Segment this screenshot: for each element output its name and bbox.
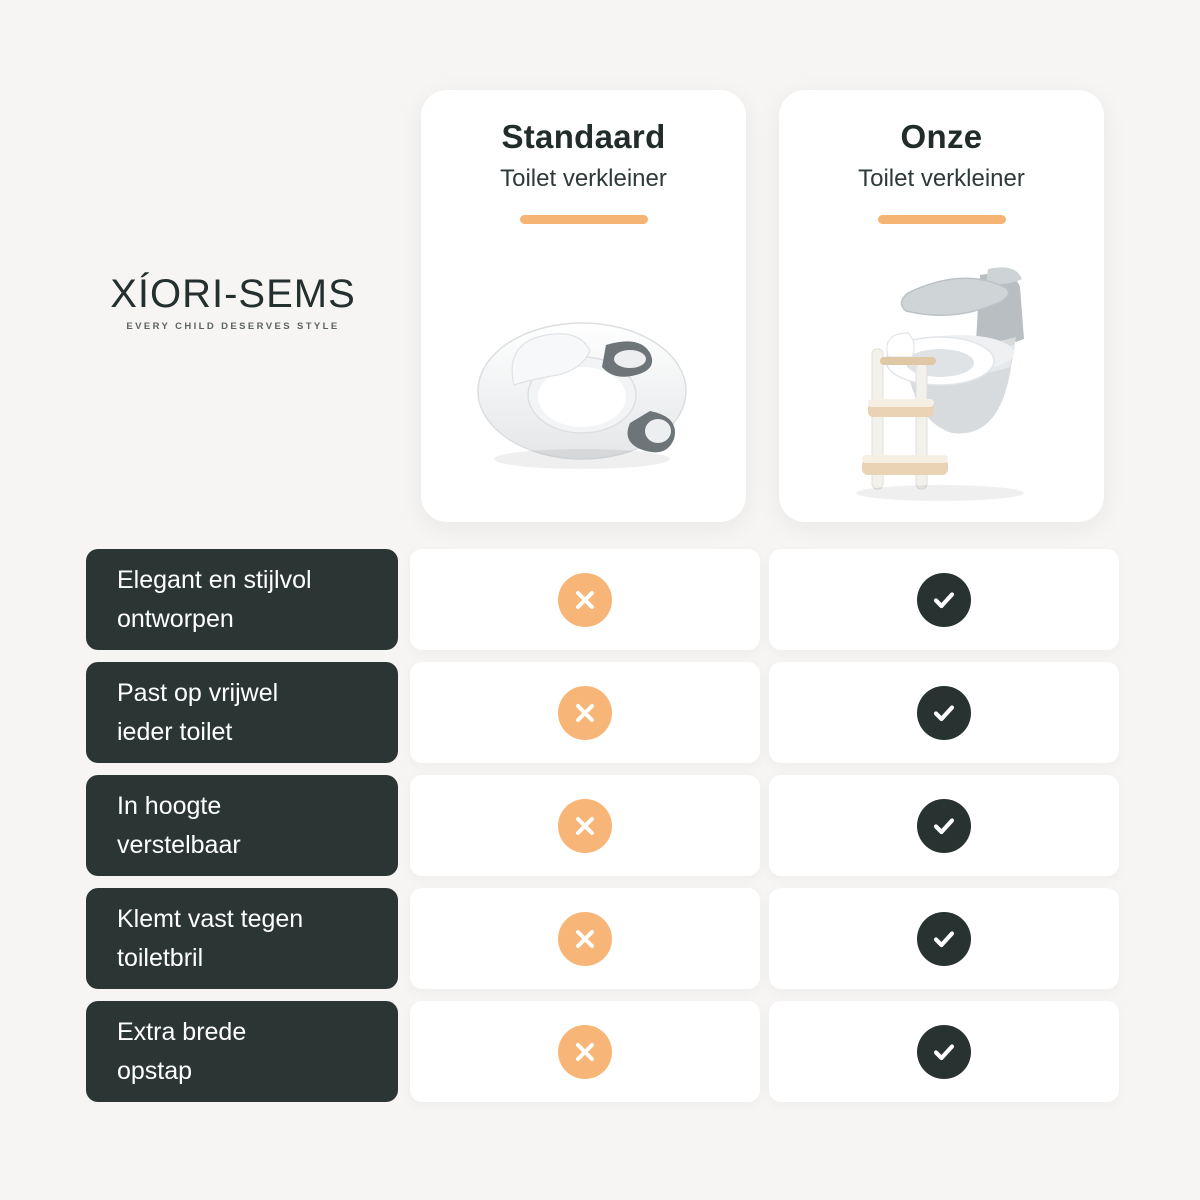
standard-toilet-seat-reducer-image	[421, 248, 746, 508]
cell-ours-5	[769, 1001, 1119, 1102]
cross-icon	[558, 912, 612, 966]
check-icon	[917, 1025, 971, 1079]
feature-label-1-line2: ontworpen	[117, 600, 398, 639]
feature-label-2: Past op vrijwel ieder toilet	[86, 662, 398, 763]
feature-row: In hoogte verstelbaar	[0, 775, 1200, 876]
feature-row: Past op vrijwel ieder toilet	[0, 662, 1200, 763]
cross-icon	[558, 1025, 612, 1079]
product-title-ours: Onze	[779, 118, 1104, 156]
feature-label-1-line1: Elegant en stijlvol	[117, 561, 398, 600]
feature-label-2-line2: ieder toilet	[117, 713, 398, 752]
feature-row: Extra brede opstap	[0, 1001, 1200, 1102]
feature-row: Elegant en stijlvol ontworpen	[0, 549, 1200, 650]
cell-ours-2	[769, 662, 1119, 763]
brand-logo: XÍORI-SEMS EVERY CHILD DESERVES STYLE	[78, 272, 388, 332]
check-icon	[917, 686, 971, 740]
cell-ours-1	[769, 549, 1119, 650]
feature-label-2-line1: Past op vrijwel	[117, 674, 398, 713]
brand-name: XÍORI-SEMS	[78, 272, 388, 317]
feature-label-5: Extra brede opstap	[86, 1001, 398, 1102]
feature-label-4-line1: Klemt vast tegen	[117, 900, 398, 939]
feature-label-3-line2: verstelbaar	[117, 826, 398, 865]
product-card-ours: Onze Toilet verkleiner	[779, 90, 1104, 522]
brand-tagline: EVERY CHILD DESERVES STYLE	[78, 321, 388, 332]
product-subtitle-standard: Toilet verkleiner	[421, 165, 746, 193]
product-subtitle-ours: Toilet verkleiner	[779, 165, 1104, 193]
cell-standard-4	[410, 888, 760, 989]
feature-label-5-line1: Extra brede	[117, 1013, 398, 1052]
our-toilet-trainer-ladder-image	[779, 248, 1104, 508]
cross-icon	[558, 573, 612, 627]
feature-label-5-line2: opstap	[117, 1052, 398, 1091]
feature-label-3: In hoogte verstelbaar	[86, 775, 398, 876]
accent-divider-ours	[878, 215, 1006, 224]
feature-label-4: Klemt vast tegen toiletbril	[86, 888, 398, 989]
cell-standard-3	[410, 775, 760, 876]
cell-standard-2	[410, 662, 760, 763]
comparison-infographic: XÍORI-SEMS EVERY CHILD DESERVES STYLE St…	[0, 0, 1200, 1200]
feature-row: Klemt vast tegen toiletbril	[0, 888, 1200, 989]
cross-icon	[558, 686, 612, 740]
cross-icon	[558, 799, 612, 853]
check-icon	[917, 573, 971, 627]
check-icon	[917, 912, 971, 966]
cell-standard-1	[410, 549, 760, 650]
cell-standard-5	[410, 1001, 760, 1102]
check-icon	[917, 799, 971, 853]
product-title-standard: Standaard	[421, 118, 746, 156]
accent-divider-standard	[520, 215, 648, 224]
cell-ours-3	[769, 775, 1119, 876]
feature-label-3-line1: In hoogte	[117, 787, 398, 826]
cell-ours-4	[769, 888, 1119, 989]
product-card-standard: Standaard Toilet verkleiner	[421, 90, 746, 522]
feature-label-1: Elegant en stijlvol ontworpen	[86, 549, 398, 650]
feature-label-4-line2: toiletbril	[117, 939, 398, 978]
